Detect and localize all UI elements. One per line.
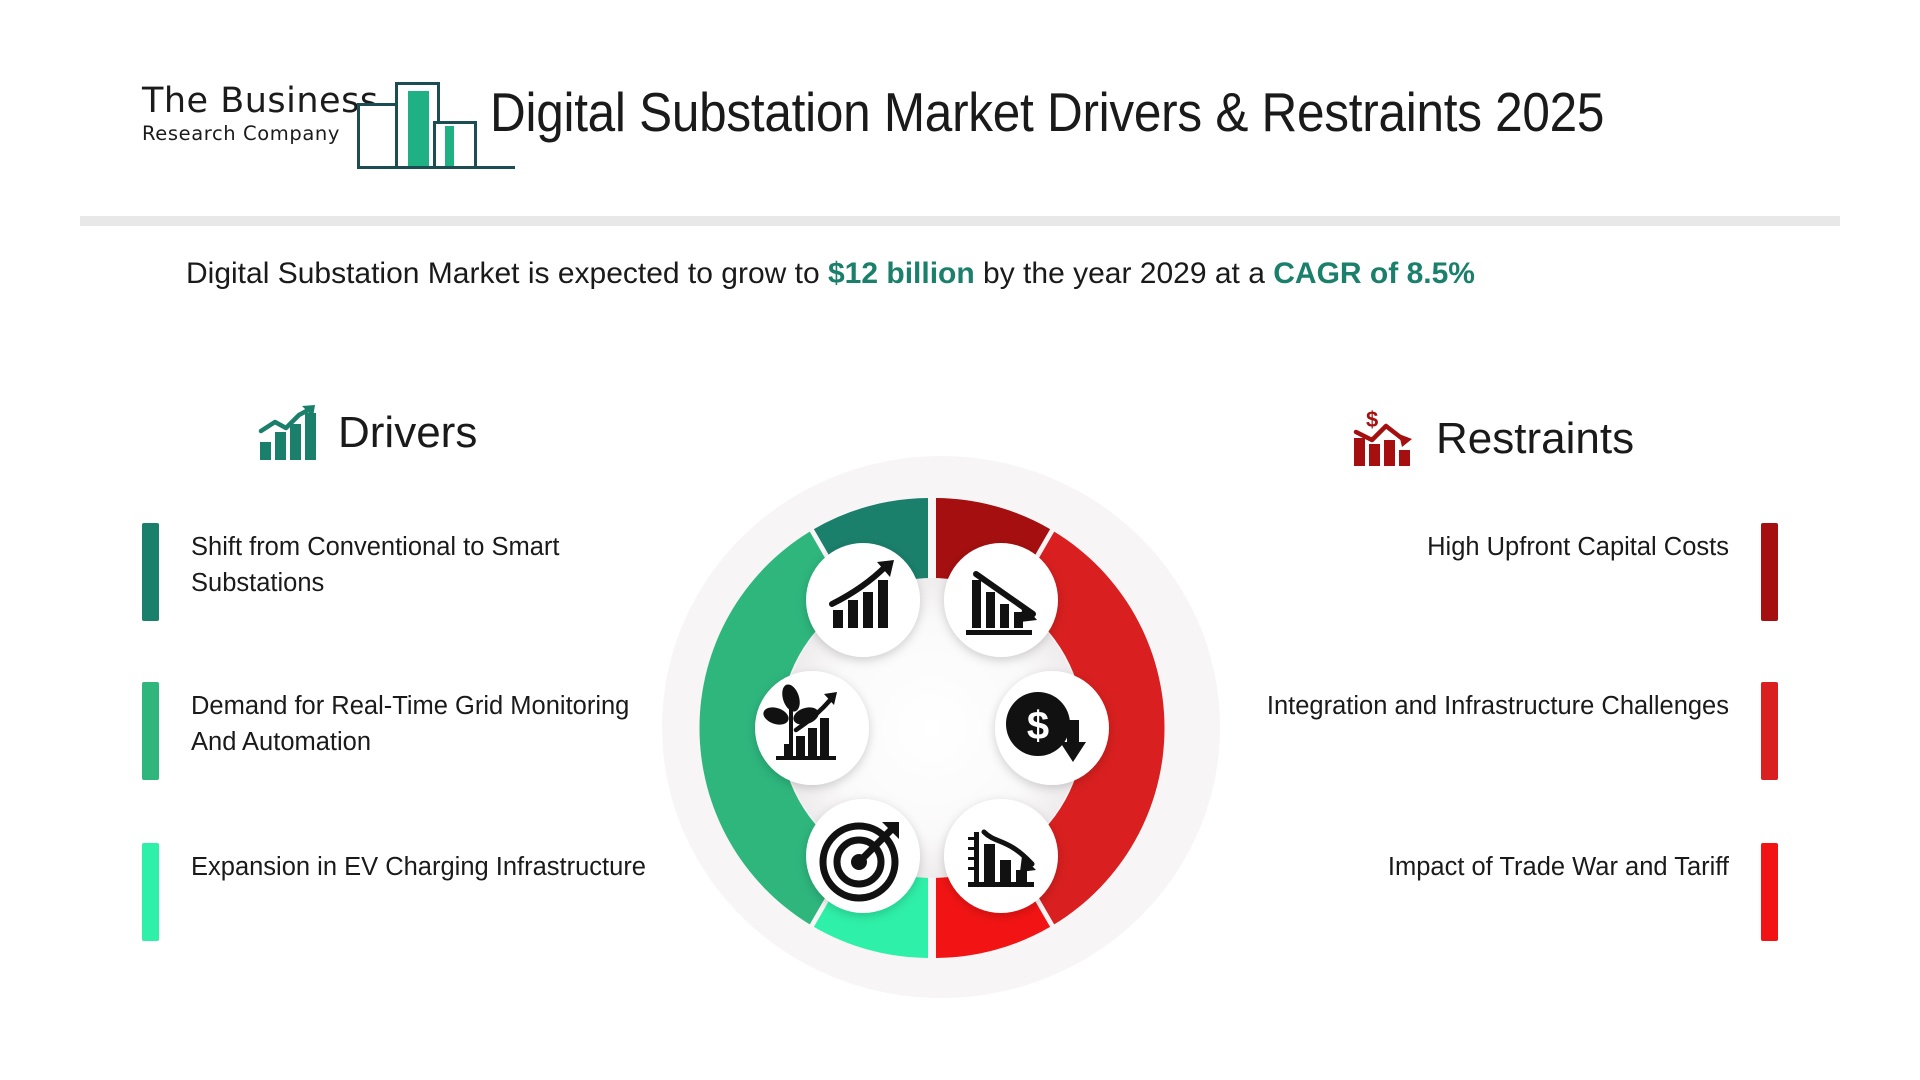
drivers-heading: Drivers bbox=[258, 404, 477, 462]
driver-label-2: Demand for Real-Time Grid Monitoring And… bbox=[191, 682, 662, 780]
driver-label-1: Shift from Conventional to Smart Substat… bbox=[191, 523, 662, 621]
wheel-chart: $ bbox=[696, 492, 1168, 964]
wheel-icon-badge-restraint-3 bbox=[944, 799, 1058, 913]
restraint-item-3: Impact of Trade War and Tariff bbox=[1258, 843, 1778, 941]
restraint-item-2: Integration and Infrastructure Challenge… bbox=[1258, 682, 1778, 780]
driver-item-3: Expansion in EV Charging Infrastructure bbox=[142, 843, 662, 941]
restraint-accent-bar-2 bbox=[1761, 682, 1778, 780]
rising-bar-chart-icon bbox=[258, 404, 320, 462]
logo-line-1: The Business bbox=[142, 81, 342, 121]
restraint-label-2: Integration and Infrastructure Challenge… bbox=[1267, 682, 1729, 780]
svg-text:$: $ bbox=[1366, 410, 1378, 432]
logo-wordmark: The Business Research Company bbox=[142, 81, 342, 145]
restraints-heading: $ Restraints bbox=[1352, 410, 1634, 468]
market-summary-text: Digital Substation Market is expected to… bbox=[186, 250, 1476, 297]
summary-part-1: Digital Substation Market is expected to… bbox=[186, 257, 828, 290]
restraint-label-1: High Upfront Capital Costs bbox=[1427, 523, 1729, 621]
cagr-value: CAGR of 8.5% bbox=[1273, 257, 1475, 290]
header-divider bbox=[80, 216, 1840, 226]
restraint-accent-bar-3 bbox=[1761, 843, 1778, 941]
driver-accent-bar-1 bbox=[142, 523, 159, 621]
restraint-label-3: Impact of Trade War and Tariff bbox=[1388, 843, 1729, 941]
svg-text:$: $ bbox=[1027, 704, 1049, 748]
driver-item-2: Demand for Real-Time Grid Monitoring And… bbox=[142, 682, 662, 780]
driver-accent-bar-2 bbox=[142, 682, 159, 780]
logo-bar-chart-icon bbox=[335, 63, 475, 169]
company-logo: The Business Research Company bbox=[142, 63, 472, 169]
restraint-item-1: High Upfront Capital Costs bbox=[1258, 523, 1778, 621]
driver-label-3: Expansion in EV Charging Infrastructure bbox=[191, 843, 646, 941]
driver-item-1: Shift from Conventional to Smart Substat… bbox=[142, 523, 662, 621]
wheel-icon-badge-restraint-1 bbox=[944, 543, 1058, 657]
falling-bar-chart-dollar-icon: $ bbox=[1352, 410, 1418, 468]
restraint-accent-bar-1 bbox=[1761, 523, 1778, 621]
market-value: $12 billion bbox=[828, 257, 975, 290]
restraints-heading-label: Restraints bbox=[1436, 413, 1634, 465]
logo-line-2: Research Company bbox=[142, 122, 332, 145]
page-title: Digital Substation Market Drivers & Rest… bbox=[490, 72, 1660, 152]
driver-accent-bar-3 bbox=[142, 843, 159, 941]
summary-part-2: by the year 2029 at a bbox=[975, 257, 1274, 290]
page-header: The Business Research Company Digital Su… bbox=[0, 0, 1920, 196]
drivers-heading-label: Drivers bbox=[338, 407, 477, 459]
infographic-page: The Business Research Company Digital Su… bbox=[0, 0, 1920, 1080]
drivers-restraints-wheel: $ bbox=[640, 440, 1260, 1000]
